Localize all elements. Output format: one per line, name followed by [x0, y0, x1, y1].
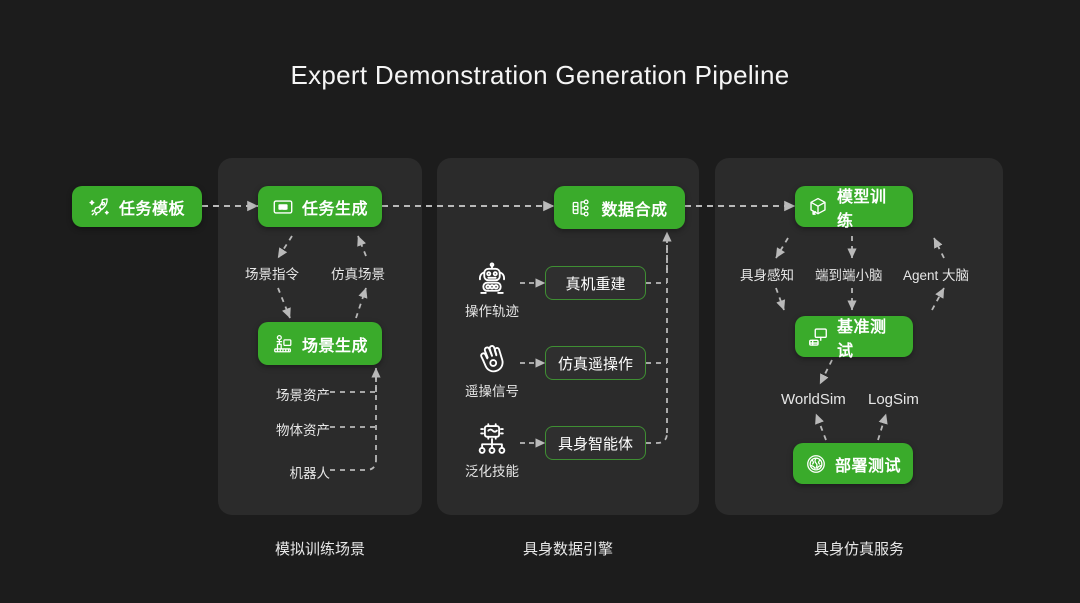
node-label: 场景生成	[302, 332, 368, 356]
node-label: 模型训练	[837, 183, 901, 231]
glyph-teleop-signal: 遥操信号	[464, 342, 520, 400]
box-label: 仿真遥操作	[558, 353, 633, 374]
node-model-training[interactable]: 模型训练	[795, 186, 913, 227]
page-title: Expert Demonstration Generation Pipeline	[0, 60, 1080, 91]
svg-text:PL: PL	[279, 204, 286, 210]
label-agent-brain: Agent 大脑	[903, 264, 969, 284]
node-label: 数据合成	[601, 196, 667, 220]
caption-panel-3: 具身仿真服务	[715, 538, 1003, 559]
node-benchmark-test[interactable]: 基准测试	[795, 316, 913, 357]
robot-icon	[473, 262, 511, 296]
glove-icon	[473, 342, 511, 376]
label-robot: 机器人	[240, 462, 330, 482]
node-data-synthesis[interactable]: 数据合成	[554, 186, 685, 229]
caption-panel-2: 具身数据引擎	[437, 538, 699, 559]
box-label: 具身智能体	[558, 433, 633, 454]
label-sim-scene: 仿真场景	[331, 263, 385, 283]
node-label: 任务生成	[302, 195, 368, 219]
deploy-globe-icon	[805, 453, 827, 475]
node-task-generation[interactable]: PL 任务生成	[258, 186, 382, 227]
diagram-canvas: Expert Demonstration Generation Pipeline	[0, 0, 1080, 603]
box-sim-teleoperation[interactable]: 仿真遥操作	[545, 346, 646, 380]
glyph-caption: 泛化技能	[464, 460, 520, 480]
label-logsim: LogSim	[868, 391, 919, 408]
box-embodied-agent[interactable]: 具身智能体	[545, 426, 646, 460]
box-label: 真机重建	[565, 273, 625, 294]
box-real-machine-rebuild[interactable]: 真机重建	[545, 266, 646, 300]
node-scene-generation[interactable]: 场景生成	[258, 322, 382, 365]
glyph-caption: 遥操信号	[464, 380, 520, 400]
label-worldsim: WorldSim	[781, 391, 846, 408]
label-scene-asset: 场景资产	[240, 384, 330, 404]
glyph-operation-trajectory: 操作轨迹	[464, 262, 520, 320]
node-task-template[interactable]: 任务模板	[72, 186, 202, 227]
cube-arrow-icon	[807, 196, 829, 218]
glyph-caption: 操作轨迹	[464, 300, 520, 320]
robot-conveyor-icon	[272, 333, 294, 355]
node-label: 部署测试	[835, 452, 901, 476]
label-embodied-perception: 具身感知	[740, 264, 794, 284]
label-end-to-end-cerebellum: 端到端小脑	[815, 264, 883, 284]
chip-network-icon	[473, 422, 511, 456]
node-label: 基准测试	[837, 313, 901, 361]
data-synthesis-icon	[571, 197, 593, 219]
node-label: 任务模板	[119, 195, 185, 219]
glyph-generalization-skill: 泛化技能	[464, 422, 520, 480]
benchmark-screen-icon	[807, 326, 829, 348]
caption-panel-1: 模拟训练场景	[218, 538, 422, 559]
rocket-icon	[89, 196, 111, 218]
node-deployment-test[interactable]: 部署测试	[793, 443, 913, 484]
label-scene-instruction: 场景指令	[245, 263, 299, 283]
pl-frame-icon: PL	[272, 196, 294, 218]
label-object-asset: 物体资产	[240, 419, 330, 439]
